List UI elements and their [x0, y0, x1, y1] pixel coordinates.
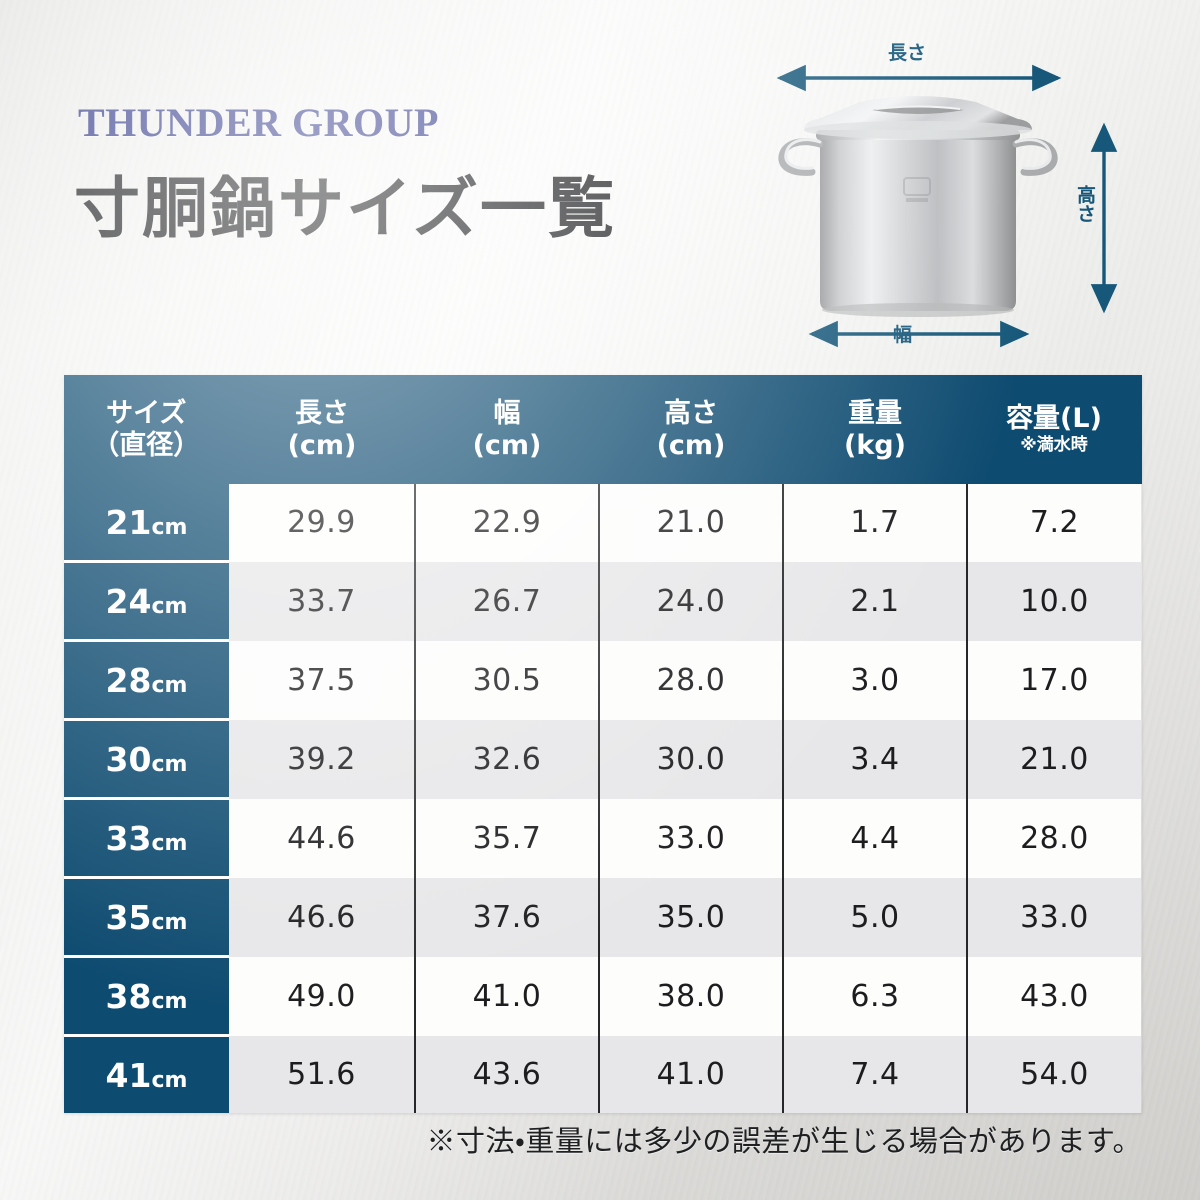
column-header-height: 高さ (cm) [599, 375, 783, 484]
cell-width: 41.0 [415, 957, 599, 1036]
size-unit: cm [151, 989, 187, 1014]
cell-weight: 3.0 [783, 641, 967, 720]
cell-capacity: 10.0 [967, 562, 1141, 641]
cell-height: 21.0 [599, 484, 783, 562]
cell-width: 35.7 [415, 799, 599, 878]
size-unit: cm [151, 673, 187, 698]
size-specification-table: サイズ （直径） 長さ (cm) 幅 (cm) 高さ (cm) 重量 (kg [64, 375, 1142, 1113]
cell-capacity: 43.0 [967, 957, 1141, 1036]
cell-length: 37.5 [229, 641, 415, 720]
size-number: 35 [106, 898, 152, 937]
table-row: 38cm49.041.038.06.343.0 [64, 957, 1141, 1036]
cell-size: 38cm [64, 957, 229, 1036]
cell-weight: 3.4 [783, 720, 967, 799]
cell-weight: 4.4 [783, 799, 967, 878]
cell-length: 33.7 [229, 562, 415, 641]
width-dimension-label: 幅 [893, 320, 912, 347]
cell-height: 30.0 [599, 720, 783, 799]
table-row: 24cm33.726.724.02.110.0 [64, 562, 1141, 641]
size-number: 28 [106, 661, 152, 700]
column-header-length: 長さ (cm) [229, 375, 415, 484]
size-number: 30 [106, 740, 152, 779]
table-header-row: サイズ （直径） 長さ (cm) 幅 (cm) 高さ (cm) 重量 (kg [64, 375, 1141, 484]
cell-size: 28cm [64, 641, 229, 720]
cell-width: 30.5 [415, 641, 599, 720]
size-unit: cm [151, 831, 187, 856]
page-title: 寸胴鍋サイズ一覧 [74, 155, 616, 251]
cell-length: 39.2 [229, 720, 415, 799]
cell-size: 41cm [64, 1036, 229, 1114]
column-header-width: 幅 (cm) [415, 375, 599, 484]
size-unit: cm [151, 515, 187, 540]
size-number: 33 [106, 819, 152, 858]
size-number: 38 [106, 977, 152, 1016]
stockpot-illustration [760, 18, 1180, 358]
product-photo-with-dimensions [760, 18, 1180, 358]
size-number: 41 [106, 1056, 152, 1095]
cell-weight: 7.4 [783, 1036, 967, 1114]
cell-size: 24cm [64, 562, 229, 641]
table-row: 33cm44.635.733.04.428.0 [64, 799, 1141, 878]
cell-capacity: 7.2 [967, 484, 1141, 562]
cell-capacity: 54.0 [967, 1036, 1141, 1114]
size-unit: cm [151, 910, 187, 935]
cell-size: 33cm [64, 799, 229, 878]
cell-capacity: 33.0 [967, 878, 1141, 957]
table-row: 41cm51.643.641.07.454.0 [64, 1036, 1141, 1114]
table-row: 30cm39.232.630.03.421.0 [64, 720, 1141, 799]
cell-capacity: 17.0 [967, 641, 1141, 720]
footnote-text: ※寸法・重量には多少の誤差が生じる場合があります。 [0, 1118, 1142, 1160]
cell-length: 46.6 [229, 878, 415, 957]
size-number: 24 [106, 582, 152, 621]
cell-weight: 6.3 [783, 957, 967, 1036]
size-unit: cm [151, 594, 187, 619]
cell-height: 28.0 [599, 641, 783, 720]
table-body: 21cm29.922.921.01.77.224cm33.726.724.02.… [64, 484, 1141, 1113]
cell-size: 30cm [64, 720, 229, 799]
size-unit: cm [151, 1068, 187, 1093]
cell-weight: 5.0 [783, 878, 967, 957]
cell-height: 35.0 [599, 878, 783, 957]
page-root: THUNDER GROUP 寸胴鍋サイズ一覧 [0, 0, 1200, 1200]
table-row: 21cm29.922.921.01.77.2 [64, 484, 1141, 562]
cell-width: 43.6 [415, 1036, 599, 1114]
column-header-weight: 重量 (kg) [783, 375, 967, 484]
cell-height: 24.0 [599, 562, 783, 641]
brand-logo-text: THUNDER GROUP [78, 99, 439, 146]
column-header-capacity: 容量(L) ※満水時 [967, 375, 1141, 484]
cell-capacity: 21.0 [967, 720, 1141, 799]
cell-size: 21cm [64, 484, 229, 562]
cell-capacity: 28.0 [967, 799, 1141, 878]
length-dimension-label: 長さ [888, 38, 926, 65]
cell-width: 26.7 [415, 562, 599, 641]
cell-height: 33.0 [599, 799, 783, 878]
size-unit: cm [151, 752, 187, 777]
cell-height: 38.0 [599, 957, 783, 1036]
table-row: 28cm37.530.528.03.017.0 [64, 641, 1141, 720]
cell-width: 37.6 [415, 878, 599, 957]
cell-length: 49.0 [229, 957, 415, 1036]
height-dimension-label: 高さ [1072, 185, 1099, 223]
cell-weight: 2.1 [783, 562, 967, 641]
table-header: サイズ （直径） 長さ (cm) 幅 (cm) 高さ (cm) 重量 (kg [64, 375, 1141, 484]
cell-length: 29.9 [229, 484, 415, 562]
cell-length: 51.6 [229, 1036, 415, 1114]
cell-height: 41.0 [599, 1036, 783, 1114]
size-number: 21 [106, 503, 152, 542]
column-header-size: サイズ （直径） [64, 375, 229, 484]
table-row: 35cm46.637.635.05.033.0 [64, 878, 1141, 957]
cell-weight: 1.7 [783, 484, 967, 562]
cell-size: 35cm [64, 878, 229, 957]
cell-width: 32.6 [415, 720, 599, 799]
cell-length: 44.6 [229, 799, 415, 878]
cell-width: 22.9 [415, 484, 599, 562]
